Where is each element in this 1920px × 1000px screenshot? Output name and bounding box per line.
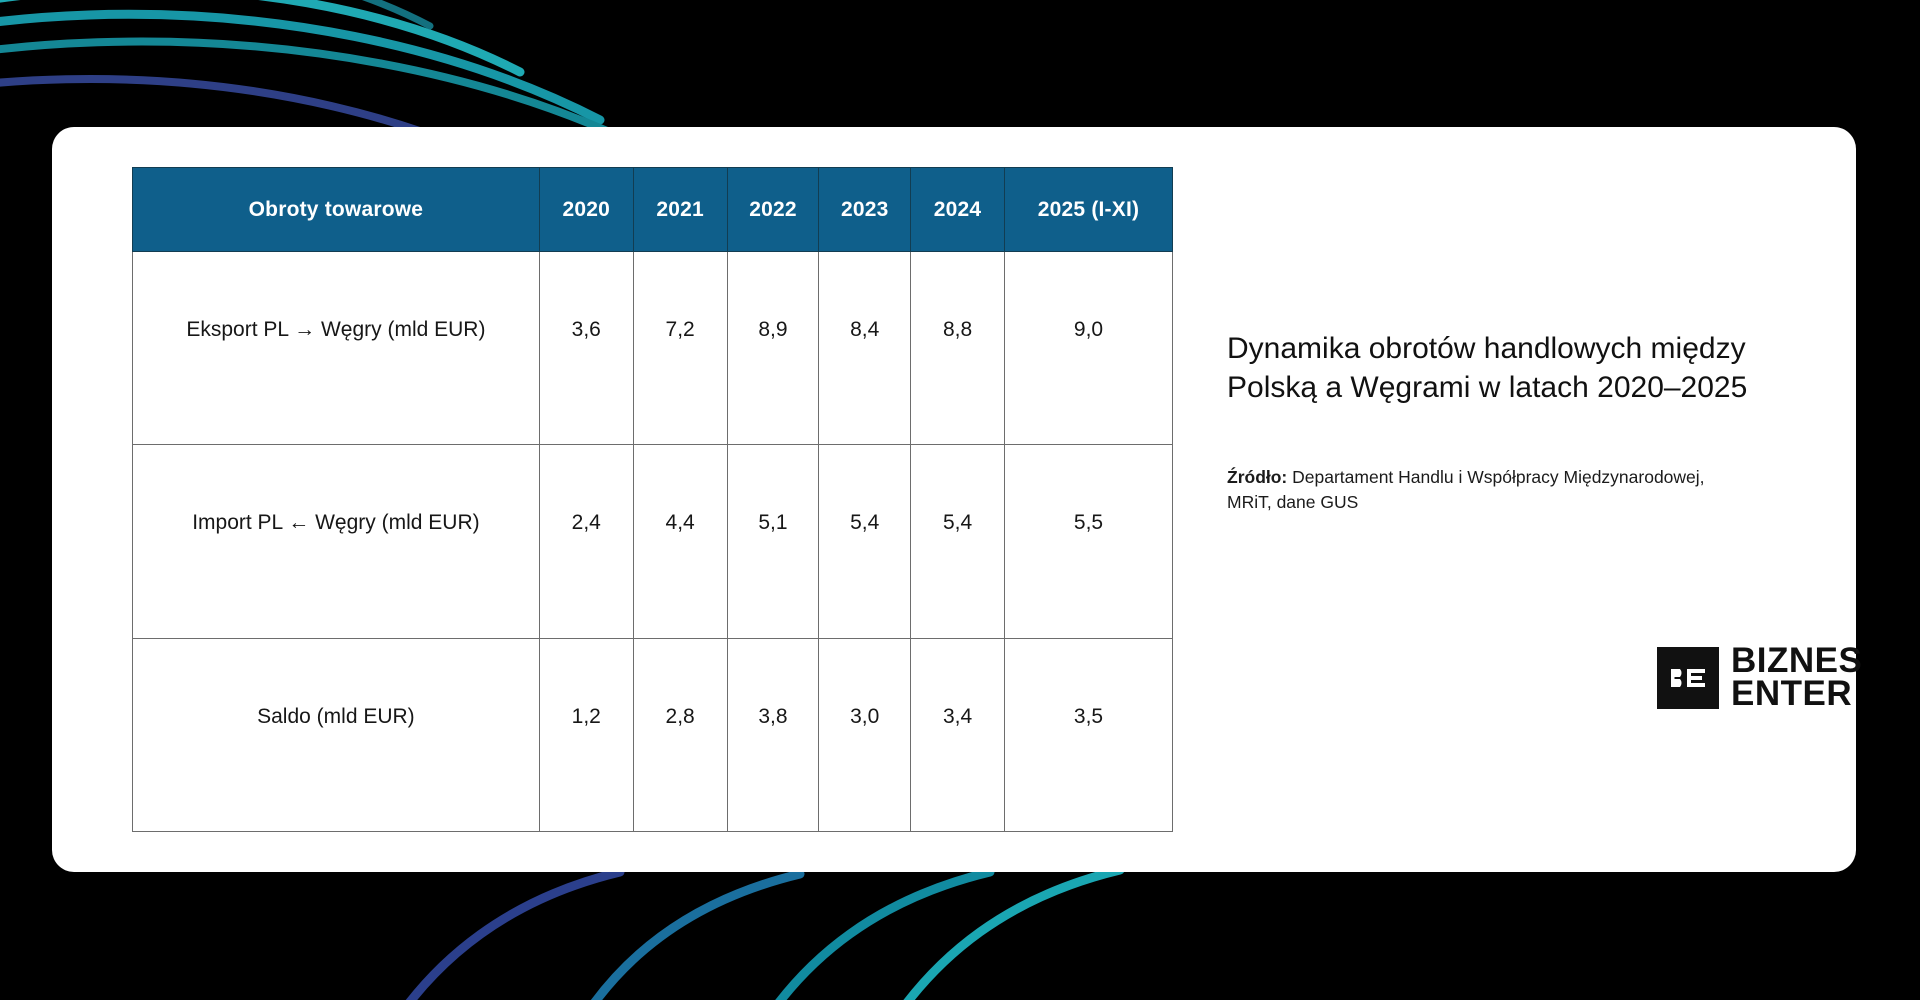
- cell-import-2023: 5,4: [819, 445, 911, 638]
- brand-logo: BIZNES ENTER: [1657, 645, 1862, 711]
- cell-saldo-2023: 3,0: [819, 638, 911, 831]
- cell-eksport-2023: 8,4: [819, 252, 911, 445]
- row-label-import: Import PL ← Węgry (mld EUR): [133, 445, 540, 638]
- header-cell-2023: 2023: [819, 168, 911, 252]
- trade-table-container: Obroty towarowe 2020 2021 2022 2023 2024…: [132, 167, 1173, 832]
- table-header: Obroty towarowe 2020 2021 2022 2023 2024…: [133, 168, 1173, 252]
- cell-import-2025: 5,5: [1005, 445, 1173, 638]
- table-row: Saldo (mld EUR) 1,2 2,8 3,8 3,0 3,4 3,5: [133, 638, 1173, 831]
- cell-import-2022: 5,1: [727, 445, 819, 638]
- brand-wordmark: BIZNES ENTER: [1731, 645, 1862, 711]
- cell-saldo-2021: 2,8: [633, 638, 727, 831]
- brand-line-2: ENTER: [1731, 678, 1862, 711]
- table-body: Eksport PL → Węgry (mld EUR) 3,6 7,2 8,9…: [133, 252, 1173, 832]
- header-cell-2020: 2020: [539, 168, 633, 252]
- info-panel: Dynamika obrotów handlowych między Polsk…: [1227, 167, 1827, 832]
- row-label-eksport: Eksport PL → Węgry (mld EUR): [133, 252, 540, 445]
- row-label-saldo: Saldo (mld EUR): [133, 638, 540, 831]
- header-cell-2021: 2021: [633, 168, 727, 252]
- header-cell-category: Obroty towarowe: [133, 168, 540, 252]
- slide-canvas: Obroty towarowe 2020 2021 2022 2023 2024…: [0, 0, 1920, 1000]
- trade-table: Obroty towarowe 2020 2021 2022 2023 2024…: [132, 167, 1173, 832]
- source-note: Źródło: Departament Handlu i Współpracy …: [1227, 465, 1707, 515]
- cell-saldo-2020: 1,2: [539, 638, 633, 831]
- cell-import-2024: 5,4: [911, 445, 1005, 638]
- brand-line-1: BIZNES: [1731, 645, 1862, 678]
- cell-eksport-2022: 8,9: [727, 252, 819, 445]
- cell-import-2021: 4,4: [633, 445, 727, 638]
- table-row: Import PL ← Węgry (mld EUR) 2,4 4,4 5,1 …: [133, 445, 1173, 638]
- cell-eksport-2024: 8,8: [911, 252, 1005, 445]
- source-text: Departament Handlu i Współpracy Międzyna…: [1227, 467, 1705, 512]
- header-cell-2022: 2022: [727, 168, 819, 252]
- cell-eksport-2021: 7,2: [633, 252, 727, 445]
- cell-saldo-2025: 3,5: [1005, 638, 1173, 831]
- be-monogram-icon: [1657, 647, 1719, 709]
- table-header-row: Obroty towarowe 2020 2021 2022 2023 2024…: [133, 168, 1173, 252]
- cell-eksport-2020: 3,6: [539, 252, 633, 445]
- header-cell-2024: 2024: [911, 168, 1005, 252]
- be-monogram-glyph: [1657, 647, 1719, 709]
- cell-saldo-2022: 3,8: [727, 638, 819, 831]
- cell-eksport-2025: 9,0: [1005, 252, 1173, 445]
- source-label: Źródło:: [1227, 467, 1287, 487]
- table-row: Eksport PL → Węgry (mld EUR) 3,6 7,2 8,9…: [133, 252, 1173, 445]
- cell-saldo-2024: 3,4: [911, 638, 1005, 831]
- page-title: Dynamika obrotów handlowych między Polsk…: [1227, 329, 1787, 407]
- cell-import-2020: 2,4: [539, 445, 633, 638]
- content-card: Obroty towarowe 2020 2021 2022 2023 2024…: [52, 127, 1856, 872]
- header-cell-2025: 2025 (I-XI): [1005, 168, 1173, 252]
